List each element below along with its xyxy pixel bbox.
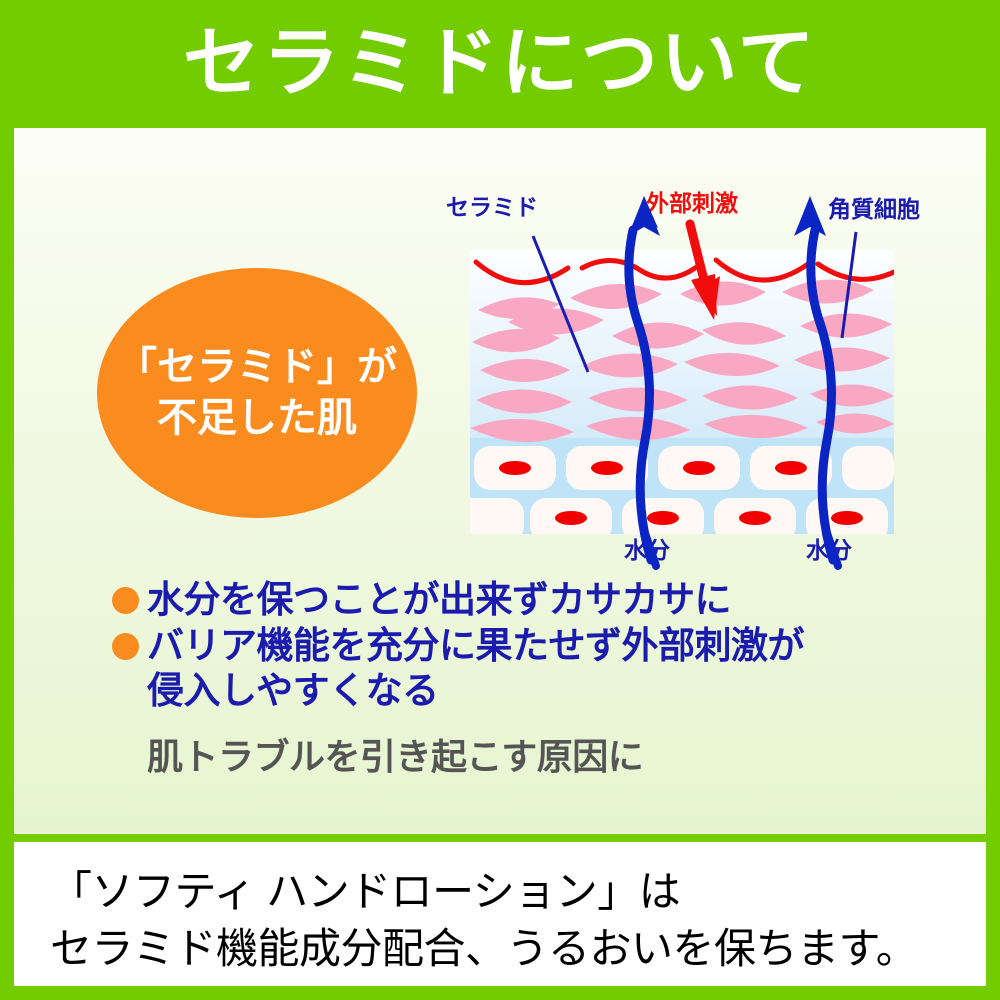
page-title: セラミドについて: [183, 26, 817, 102]
bullet-text-2: バリア機能を充分に果たせず外部刺激が: [147, 624, 804, 668]
note-text: 肌トラブルを引き起こす原因に: [147, 737, 643, 777]
highlight-line-2: 不足した肌: [157, 393, 357, 444]
label-horny-cell: 角質細胞: [828, 198, 920, 221]
footer-panel: 「ソフティ ハンドローション」は セラミド機能成分配合、うるおいを保ちます。: [14, 842, 986, 986]
highlight-ellipse: 「セラミド」が 不足した肌: [97, 268, 417, 518]
infographic-root: セラミドについて 「セラミド」が 不足した肌 セラミド 外部刺激 角質細胞 水分…: [0, 0, 1000, 1000]
bullet-dot-icon: [112, 587, 139, 614]
bullet-dot-icon: [112, 633, 139, 660]
bullet-text-2-continued: 侵入しやすくなる: [112, 669, 912, 713]
list-item: バリア機能を充分に果たせず外部刺激が: [112, 624, 912, 668]
highlight-line-1: 「セラミド」が: [117, 342, 397, 393]
header-banner: セラミドについて: [0, 0, 1000, 128]
bullet-text-1: 水分を保つことが出来ずカサカサに: [147, 578, 731, 622]
footer-line-1: 「ソフティ ハンドローション」は: [50, 864, 917, 921]
label-external-stimulus: 外部刺激: [646, 192, 738, 215]
skin-diagram: [470, 250, 894, 534]
footer-line-2: セラミド機能成分配合、うるおいを保ちます。: [50, 921, 917, 978]
label-moisture-right: 水分: [806, 539, 852, 562]
label-moisture-left: 水分: [624, 539, 670, 562]
bullet-list: 水分を保つことが出来ずカサカサに バリア機能を充分に果たせず外部刺激が 侵入しや…: [112, 578, 912, 713]
label-ceramide: セラミド: [446, 196, 538, 219]
list-item: 水分を保つことが出来ずカサカサに: [112, 578, 912, 622]
